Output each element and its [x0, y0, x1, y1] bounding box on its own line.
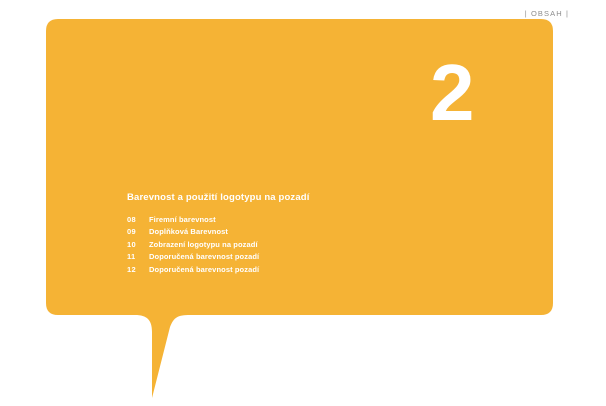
list-item[interactable]: 10 Zobrazení logotypu na pozadí: [127, 240, 457, 249]
list-item-number: 11: [127, 252, 149, 261]
table-of-contents: 08 Firemní barevnost 09 Doplňková Barevn…: [127, 215, 457, 274]
list-item[interactable]: 08 Firemní barevnost: [127, 215, 457, 224]
slide-page: | OBSAH | 2 Barevnost a použití logotypu…: [0, 0, 606, 406]
list-item-label: Doporučená barevnost pozadí: [149, 252, 259, 261]
list-item-label: Doplňková Barevnost: [149, 227, 228, 236]
list-item-label: Firemní barevnost: [149, 215, 216, 224]
content-block: Barevnost a použití logotypu na pozadí 0…: [127, 192, 457, 277]
list-item[interactable]: 11 Doporučená barevnost pozadí: [127, 252, 457, 261]
list-item-label: Zobrazení logotypu na pozadí: [149, 240, 258, 249]
list-item-label: Doporučená barevnost pozadí: [149, 265, 259, 274]
page-title: Barevnost a použití logotypu na pozadí: [127, 192, 457, 203]
list-item-number: 10: [127, 240, 149, 249]
list-item-number: 09: [127, 227, 149, 236]
list-item[interactable]: 12 Doporučená barevnost pozadí: [127, 265, 457, 274]
chapter-number: 2: [430, 53, 490, 133]
list-item[interactable]: 09 Doplňková Barevnost: [127, 227, 457, 236]
list-item-number: 08: [127, 215, 149, 224]
list-item-number: 12: [127, 265, 149, 274]
